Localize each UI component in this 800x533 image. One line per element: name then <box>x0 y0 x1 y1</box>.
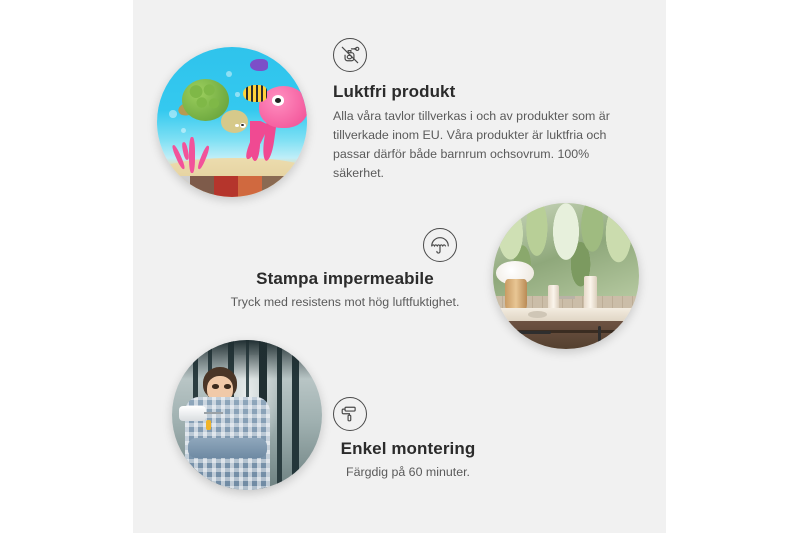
woman-illustration <box>181 367 274 490</box>
turtle-head <box>221 110 249 133</box>
bottle <box>548 285 558 311</box>
forest-mural-scene <box>172 340 322 490</box>
underwater-scene <box>157 47 307 197</box>
bubble-icon <box>169 110 177 118</box>
coral-illustration <box>169 128 214 173</box>
feature-block-waterproof: Stampa impermeabile Tryck med resistens … <box>205 228 485 312</box>
paint-roller-prop <box>179 406 222 421</box>
feature-description: Tryck med resistens mot hög luftfuktighe… <box>205 293 485 312</box>
roller-drum <box>179 406 206 421</box>
turtle-eye <box>240 123 246 128</box>
feature-image-easy-install <box>172 340 322 490</box>
fish-illustration <box>243 85 267 102</box>
umbrella-icon <box>423 228 457 262</box>
bathroom-scene <box>493 203 639 349</box>
crossed-arms <box>188 438 266 458</box>
cabinet-handle <box>598 326 601 346</box>
feature-image-waterproof <box>493 203 639 349</box>
coral-branch <box>189 137 195 173</box>
fish-illustration <box>250 59 268 71</box>
roller-grip <box>206 420 211 430</box>
feature-title: Enkel montering <box>308 439 508 459</box>
coral-branch <box>196 145 210 170</box>
roller-rod <box>204 412 223 414</box>
no-odour-spray-bottle-icon <box>333 38 367 72</box>
room-foreground-strip <box>157 176 307 197</box>
turtle-illustration <box>178 77 247 134</box>
feature-block-easy-install: Enkel montering Färgdig på 60 minuter. <box>308 397 508 482</box>
feature-description: Färgdig på 60 minuter. <box>308 463 508 482</box>
feature-title: Stampa impermeabile <box>205 269 485 289</box>
feature-title: Luktfri produkt <box>333 82 633 102</box>
feature-image-odorless <box>157 47 307 197</box>
feature-block-odorless: Luktfri produkt Alla våra tavlor tillver… <box>333 38 633 182</box>
vanity-cabinet <box>493 321 639 349</box>
octopus-eye <box>272 95 285 106</box>
faucet <box>557 296 575 299</box>
infographic-canvas: Luktfri produkt Alla våra tavlor tillver… <box>0 0 800 533</box>
feature-description: Alla våra tavlor tillverkas i och av pro… <box>333 107 633 182</box>
paint-roller-icon <box>333 397 367 431</box>
